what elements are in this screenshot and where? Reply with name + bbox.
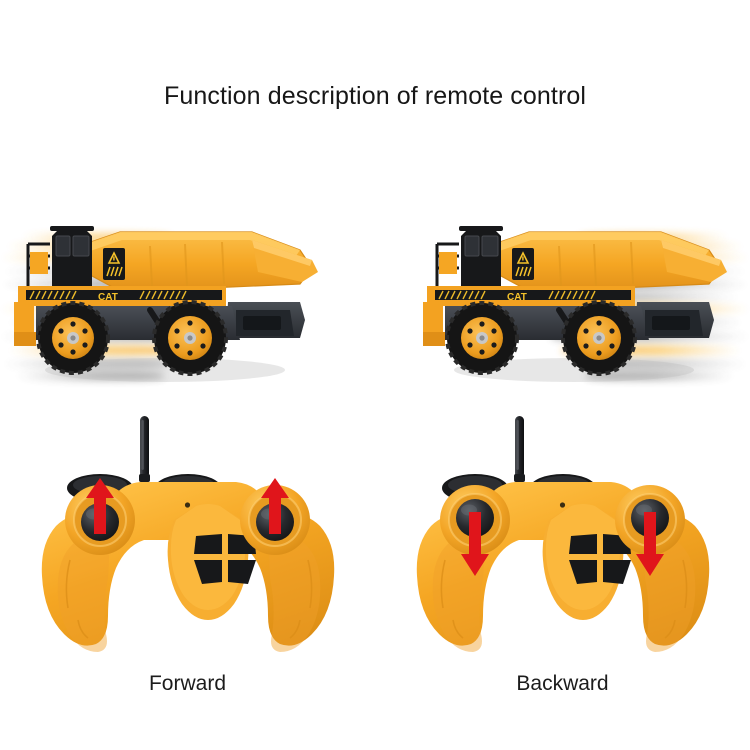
controller-scene-backward [375, 408, 750, 663]
truck-wheel-front [447, 303, 517, 373]
truck-wheel-rear [563, 302, 635, 374]
product-infographic: Function description of remote control [0, 0, 750, 750]
truck-scene-forward: CAT [0, 190, 375, 400]
controller-scene-forward [0, 408, 375, 663]
page-title: Function description of remote control [0, 82, 750, 111]
truck-wheel-front [38, 303, 108, 373]
panel-forward: CAT [0, 180, 375, 740]
led-indicator [560, 502, 565, 507]
antenna-rod [514, 416, 525, 482]
remote-controller-illustration[interactable] [0, 408, 375, 663]
dump-truck-illustration: CAT [375, 190, 750, 400]
truck-brand-text: CAT [98, 292, 118, 303]
truck-brand-text: CAT [507, 292, 527, 303]
truck-scene-backward: CAT [375, 190, 750, 400]
truck-wheel-rear [154, 302, 226, 374]
antenna-rod [139, 416, 150, 482]
remote-controller-illustration[interactable] [375, 408, 750, 663]
dump-truck-illustration: CAT [0, 190, 375, 400]
mode-label-backward: Backward [375, 672, 750, 696]
mode-label-forward: Forward [0, 672, 375, 696]
led-indicator [185, 502, 190, 507]
panel-backward: CAT [375, 180, 750, 740]
